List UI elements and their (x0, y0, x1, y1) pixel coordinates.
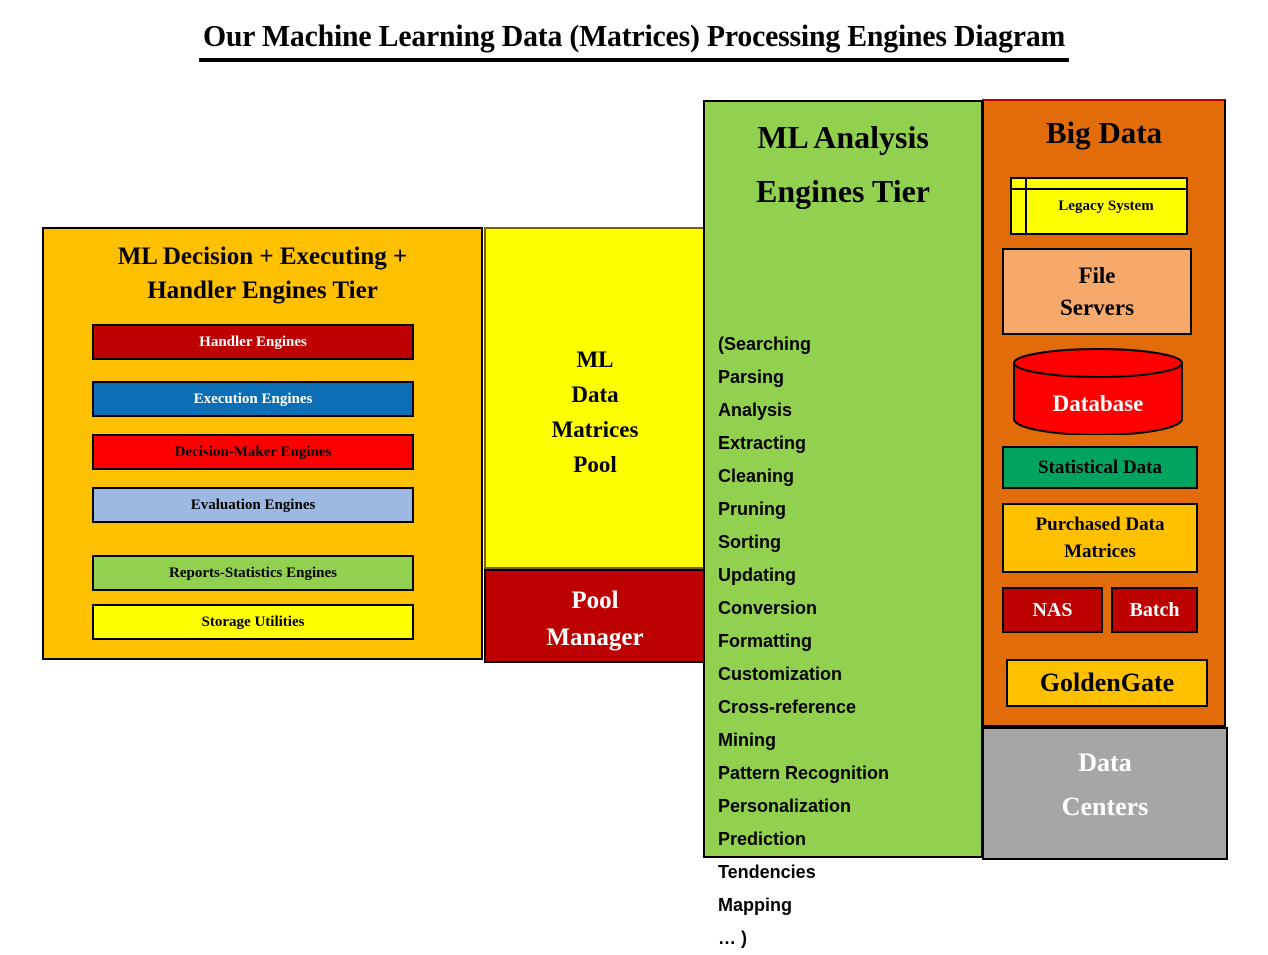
goldengate-label: GoldenGate (1040, 668, 1174, 698)
engine-bar-execution-engines-label: Execution Engines (194, 391, 313, 408)
goldengate-box[interactable]: GoldenGate (1006, 659, 1208, 707)
pool-label-line4: Pool (486, 447, 704, 482)
database-label: Database (1012, 391, 1184, 417)
engine-bar-handler-engines[interactable]: Handler Engines (92, 324, 414, 360)
purchased-data-matrices-box[interactable]: Purchased Data Matrices (1002, 503, 1198, 573)
nas-label: NAS (1032, 599, 1072, 622)
engine-bar-decision-maker-engines[interactable]: Decision-Maker Engines (92, 434, 414, 470)
list-item: Parsing (718, 361, 975, 394)
legacy-system-box[interactable]: Legacy System (1010, 177, 1188, 235)
engine-bar-reports-statistics-engines[interactable]: Reports-Statistics Engines (92, 555, 414, 591)
list-item: Analysis (718, 394, 975, 427)
analysis-tier-heading: ML Analysis Engines Tier (705, 102, 981, 218)
data-centers-label: Data Centers (984, 741, 1226, 829)
list-item: Pruning (718, 493, 975, 526)
legacy-system-rack-divider-line (1025, 179, 1027, 233)
database-cylinder[interactable]: Database (1012, 347, 1184, 435)
ml-analysis-engines-tier-panel: ML Analysis Engines Tier (Searching Pars… (703, 100, 983, 858)
engine-bar-storage-utilities-label: Storage Utilities (202, 614, 305, 631)
pool-manager-box[interactable]: Pool Manager (484, 569, 706, 663)
file-servers-box[interactable]: File Servers (1002, 248, 1192, 335)
pool-label-line3: Matrices (486, 412, 704, 447)
legacy-system-rack-top-line (1012, 188, 1186, 190)
data-centers-label-line2: Centers (984, 785, 1226, 829)
page-title-text: Our Machine Learning Data (Matrices) Pro… (199, 18, 1069, 62)
data-centers-panel: Data Centers (982, 727, 1228, 860)
analysis-engine-list: (Searching Parsing Analysis Extracting C… (718, 328, 975, 955)
list-item: Prediction (718, 823, 975, 856)
left-tier-heading: ML Decision + Executing + Handler Engine… (44, 229, 481, 308)
engine-bar-evaluation-engines-label: Evaluation Engines (191, 497, 316, 514)
pool-manager-label-line1: Pool (486, 582, 704, 619)
purchased-data-label-line1: Purchased Data (1036, 511, 1165, 538)
statistical-data-label: Statistical Data (1038, 457, 1162, 479)
list-item: Updating (718, 559, 975, 592)
list-item: Tendencies (718, 856, 975, 889)
pool-label-line2: Data (486, 377, 704, 412)
page-title: Our Machine Learning Data (Matrices) Pro… (0, 18, 1268, 62)
batch-label: Batch (1130, 599, 1180, 622)
pool-label-line1: ML (486, 342, 704, 377)
batch-box[interactable]: Batch (1111, 587, 1198, 633)
list-item: Conversion (718, 592, 975, 625)
engine-bar-handler-engines-label: Handler Engines (199, 334, 307, 351)
statistical-data-box[interactable]: Statistical Data (1002, 446, 1198, 489)
left-tier-heading-line1: ML Decision + Executing + (44, 240, 481, 274)
list-item: Mining (718, 724, 975, 757)
left-tier-heading-line2: Handler Engines Tier (44, 274, 481, 308)
data-centers-label-line1: Data (984, 741, 1226, 785)
list-item: Pattern Recognition (718, 757, 975, 790)
analysis-tier-heading-line2: Engines Tier (705, 164, 981, 218)
list-item: Cleaning (718, 460, 975, 493)
engine-bar-storage-utilities[interactable]: Storage Utilities (92, 604, 414, 640)
nas-box[interactable]: NAS (1002, 587, 1103, 633)
engine-bar-evaluation-engines[interactable]: Evaluation Engines (92, 487, 414, 523)
engine-bar-reports-statistics-engines-label: Reports-Statistics Engines (169, 565, 337, 582)
engine-bar-execution-engines[interactable]: Execution Engines (92, 381, 414, 417)
list-item: (Searching (718, 328, 975, 361)
pool-manager-label-line2: Manager (486, 619, 704, 656)
engine-bar-decision-maker-engines-label: Decision-Maker Engines (175, 444, 332, 461)
list-item: … ) (718, 922, 975, 955)
list-item: Cross-reference (718, 691, 975, 724)
purchased-data-label-line2: Matrices (1036, 538, 1165, 565)
list-item: Customization (718, 658, 975, 691)
pool-manager-label: Pool Manager (486, 582, 704, 656)
list-item: Formatting (718, 625, 975, 658)
pool-label: ML Data Matrices Pool (486, 342, 704, 482)
list-item: Personalization (718, 790, 975, 823)
big-data-heading: Big Data (984, 101, 1224, 153)
file-servers-label-line2: Servers (1060, 292, 1134, 324)
ml-data-matrices-pool-box: ML Data Matrices Pool (484, 227, 706, 569)
list-item: Extracting (718, 427, 975, 460)
list-item: Sorting (718, 526, 975, 559)
file-servers-label-line1: File (1060, 260, 1134, 292)
ml-decision-executing-handler-engines-tier-panel: ML Decision + Executing + Handler Engine… (42, 227, 483, 660)
analysis-tier-heading-line1: ML Analysis (705, 110, 981, 164)
big-data-panel: Big Data Legacy System File Servers Data… (982, 99, 1226, 727)
legacy-system-label: Legacy System (1058, 198, 1153, 215)
